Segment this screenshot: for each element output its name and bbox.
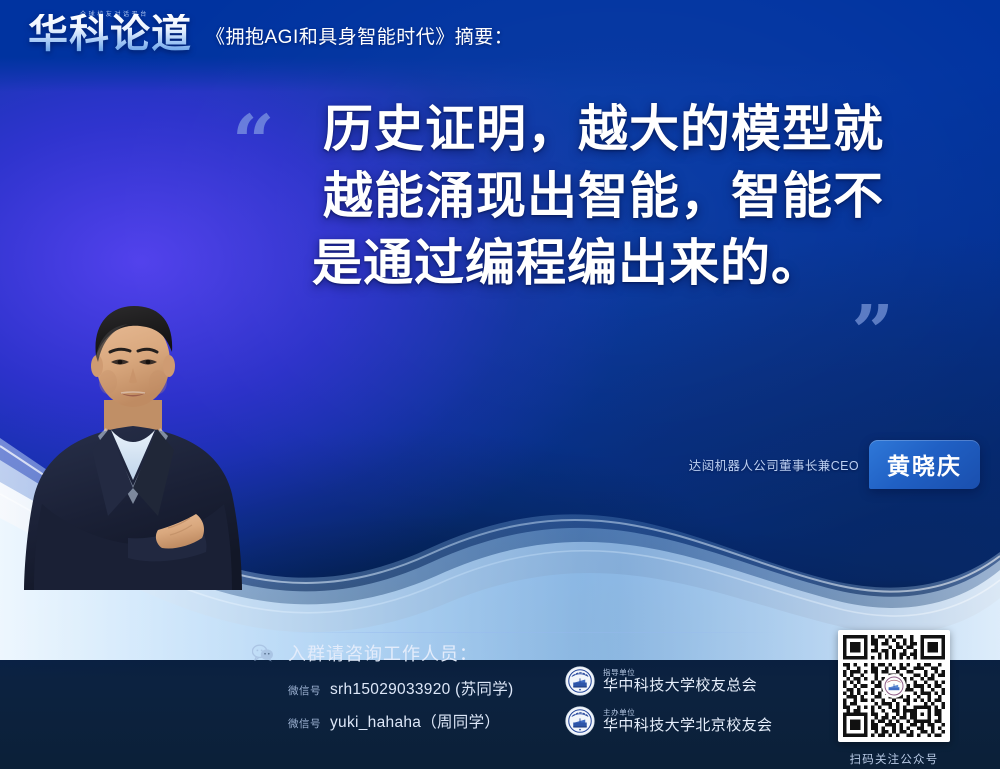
organizer-text: 指导单位 华中科技大学校友总会 (603, 669, 757, 694)
poster-header: 全球校友对话平台 华科论道 《拥抱AGI和具身智能时代》摘要： (28, 14, 513, 54)
contact-section: 入群请咨询工作人员： 微信号 srh15029033920 (苏同学) 微信号 … (252, 640, 514, 732)
brand-logo[interactable]: 全球校友对话平台 华科论道 (28, 14, 192, 54)
wechat-value[interactable]: srh15029033920 (苏同学) (330, 677, 514, 699)
organizer-section: 指导单位 华中科技大学校友总会 主办单位 华中科技大学北京校友会 (565, 666, 772, 746)
footer-divider (288, 632, 780, 633)
quote-close-mark: ” (851, 296, 894, 370)
organizer-name: 华中科技大学北京校友会 (603, 718, 772, 733)
organizer-name: 华中科技大学校友总会 (603, 678, 757, 693)
wechat-icon (252, 644, 274, 662)
organizer-kind: 主办单位 (603, 709, 772, 717)
wechat-label: 微信号 (288, 716, 321, 731)
quote-line-1: 历史证明，越大的模型就 (232, 96, 962, 163)
organizer-row: 指导单位 华中科技大学校友总会 (565, 666, 772, 696)
wechat-row: 微信号 srh15029033920 (苏同学) (252, 677, 514, 699)
hust-seal-icon (565, 706, 595, 736)
hust-seal-icon (565, 666, 595, 696)
contact-heading-row: 入群请咨询工作人员： (252, 640, 514, 666)
poster-canvas: 全球校友对话平台 华科论道 《拥抱AGI和具身智能时代》摘要： “ 历史证明，越… (0, 0, 1000, 769)
qr-center-logo-icon (882, 674, 906, 698)
organizer-text: 主办单位 华中科技大学北京校友会 (603, 709, 772, 734)
qr-caption: 扫码关注公众号 (838, 751, 950, 767)
organizer-row: 主办单位 华中科技大学北京校友会 (565, 706, 772, 736)
speaker-portrait (8, 290, 258, 590)
speaker-attribution: 达闼机器人公司董事长兼CEO 黄晓庆 (689, 440, 980, 489)
organizer-kind: 指导单位 (603, 669, 757, 677)
speaker-name-badge: 黄晓庆 (869, 440, 980, 489)
wechat-value[interactable]: yuki_hahaha（周同学） (330, 710, 500, 732)
page-title: 《拥抱AGI和具身智能时代》摘要： (206, 22, 513, 54)
quote-block: “ 历史证明，越大的模型就 越能涌现出智能，智能不 是通过编程编出来的。 ” (232, 96, 962, 297)
quote-line-2: 越能涌现出智能，智能不 (232, 163, 962, 230)
logo-wordmark: 华科论道 (28, 14, 192, 54)
wechat-label: 微信号 (288, 683, 321, 698)
quote-line-3: 是通过编程编出来的。 (232, 230, 962, 297)
speaker-name: 黄晓庆 (887, 454, 962, 480)
quote-open-mark: “ (232, 106, 275, 180)
contact-title: 入群请咨询工作人员： (288, 640, 478, 666)
wechat-row: 微信号 yuki_hahaha（周同学） (252, 710, 514, 732)
speaker-role: 达闼机器人公司董事长兼CEO (689, 455, 859, 474)
qr-code[interactable] (838, 630, 950, 742)
qr-section: 扫码关注公众号 (838, 630, 950, 767)
